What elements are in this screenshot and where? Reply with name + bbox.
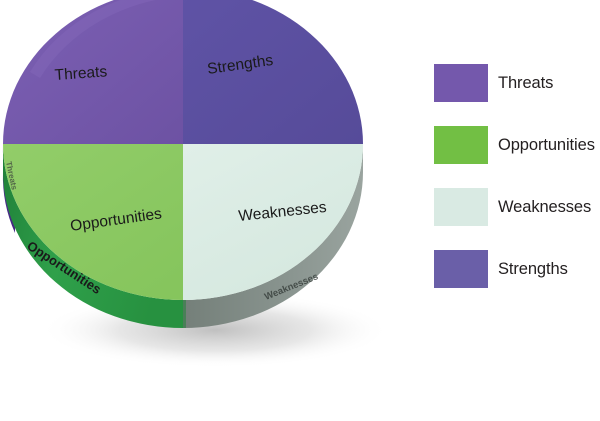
legend-swatch-threats xyxy=(434,64,488,102)
legend-label-threats: Threats xyxy=(498,74,553,93)
chart-legend: Threats Opportunities Weaknesses Strengt… xyxy=(434,52,600,300)
legend-swatch-weaknesses xyxy=(434,188,488,226)
legend-swatch-strengths xyxy=(434,250,488,288)
legend-item-opportunities[interactable]: Opportunities xyxy=(434,114,600,176)
slice-weaknesses[interactable] xyxy=(183,144,363,300)
swot-pie-chart-figure: Threats Strengths Weaknesses Opportuniti… xyxy=(0,0,600,421)
legend-label-strengths: Strengths xyxy=(498,260,568,279)
legend-label-opportunities: Opportunities xyxy=(498,136,595,155)
legend-item-strengths[interactable]: Strengths xyxy=(434,238,600,300)
legend-item-weaknesses[interactable]: Weaknesses xyxy=(434,176,600,238)
wall-seam xyxy=(183,300,186,328)
legend-label-weaknesses: Weaknesses xyxy=(498,198,591,217)
legend-item-threats[interactable]: Threats xyxy=(434,52,600,114)
legend-swatch-opportunities xyxy=(434,126,488,164)
